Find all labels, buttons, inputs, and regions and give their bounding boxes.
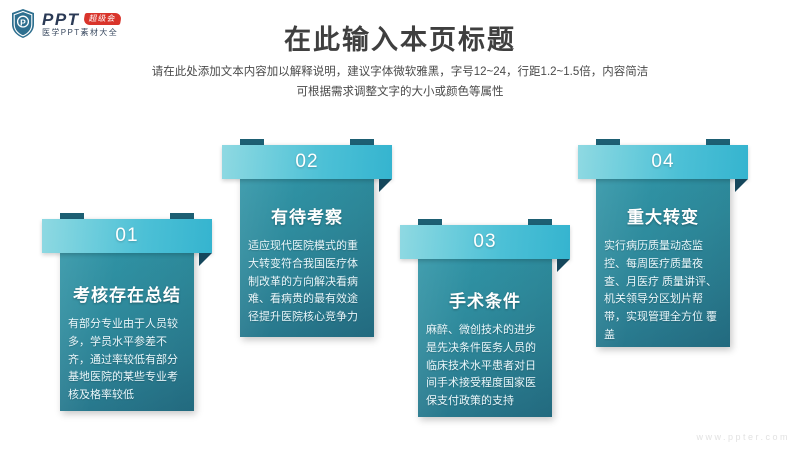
card-04-text: 实行病历质量动态监控、每周医疗质量夜查、月医疗 质量讲评、机关领导分区划片帮带，… bbox=[604, 238, 722, 345]
card-03-text: 麻醉、微创技术的进步是先决条件医务人员的临床技术水平患者对日间手术接受程度国家医… bbox=[426, 322, 544, 411]
card-03-ribbon: 03 bbox=[400, 219, 570, 259]
ribbon-fold-corner bbox=[557, 259, 570, 272]
card-04-ribbon: 04 bbox=[578, 139, 748, 179]
ribbon-fold-corner bbox=[379, 179, 392, 192]
card-02-heading: 有待考察 bbox=[271, 203, 343, 228]
card-03-heading: 手术条件 bbox=[449, 287, 521, 312]
ribbon-band: 03 bbox=[400, 225, 570, 259]
card-03-number: 03 bbox=[400, 225, 570, 259]
footer-watermark: www.ppter.com bbox=[696, 432, 790, 442]
card-01-text: 有部分专业由于人员较多，学员水平参差不齐，通过率较低有部分基地医院的某些专业考核… bbox=[68, 316, 186, 405]
card-02-text: 适应现代医院模式的重大转变符合我国医疗体制改革的方向解决看病难、看病贵的最有效途… bbox=[248, 238, 366, 327]
card-04-number: 04 bbox=[578, 145, 748, 179]
card-02-ribbon: 02 bbox=[222, 139, 392, 179]
card-02-number: 02 bbox=[222, 145, 392, 179]
ribbon-fold-corner bbox=[199, 253, 212, 266]
card-01-heading: 考核存在总结 bbox=[73, 281, 181, 306]
ribbon-band: 01 bbox=[42, 219, 212, 253]
card-01-ribbon: 01 bbox=[42, 213, 212, 253]
card-group: 考核存在总结 有部分专业由于人员较多，学员水平参差不齐，通过率较低有部分基地医院… bbox=[0, 0, 800, 450]
card-01-number: 01 bbox=[42, 219, 212, 253]
card-04-heading: 重大转变 bbox=[627, 203, 699, 228]
ribbon-band: 04 bbox=[578, 145, 748, 179]
ribbon-fold-corner bbox=[735, 179, 748, 192]
ribbon-band: 02 bbox=[222, 145, 392, 179]
